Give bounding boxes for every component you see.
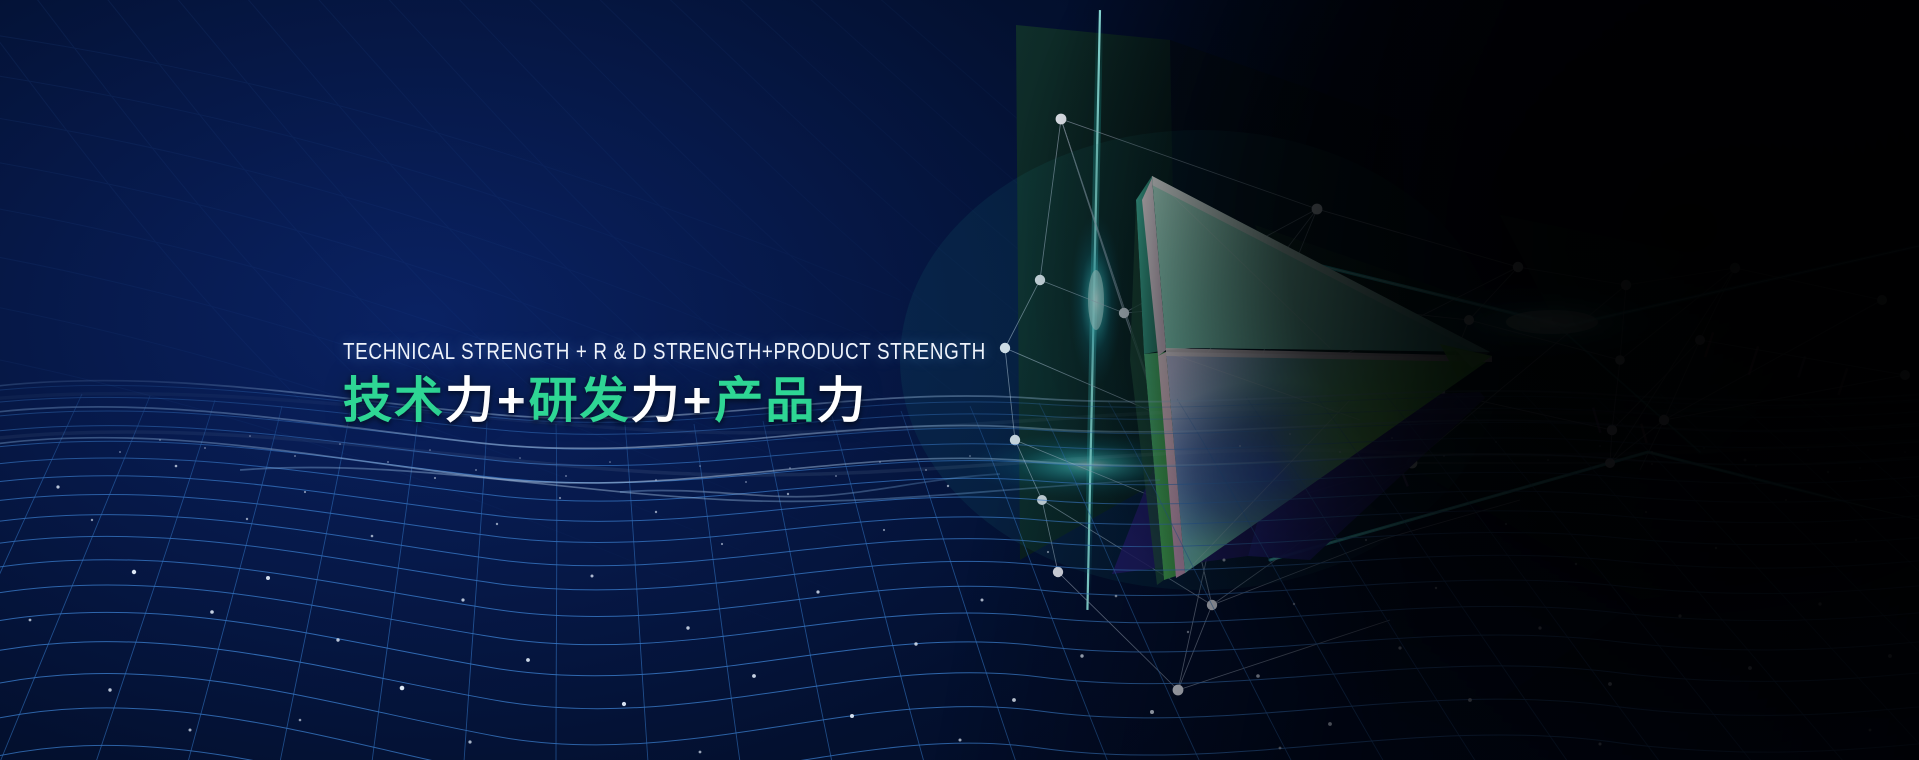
headline-plus-2: +: [683, 374, 714, 428]
eyebrow-text: TECHNICAL STRENGTH + R & D STRENGTH+PROD…: [343, 340, 917, 363]
headline-token-li-2: 力: [631, 374, 682, 428]
hero-banner: TECHNICAL STRENGTH + R & D STRENGTH+PROD…: [0, 0, 1919, 760]
headline-token-product: 产品: [714, 374, 816, 428]
page-title: 技术力+研发力+产品力: [343, 375, 1043, 428]
headline-plus-1: +: [497, 374, 528, 428]
headline-token-li-1: 力: [445, 374, 496, 428]
headline-block: TECHNICAL STRENGTH + R & D STRENGTH+PROD…: [343, 340, 1043, 428]
headline-token-technical: 技术: [343, 374, 445, 428]
headline-token-li-3: 力: [816, 374, 867, 428]
headline-token-rnd: 研发: [529, 374, 631, 428]
